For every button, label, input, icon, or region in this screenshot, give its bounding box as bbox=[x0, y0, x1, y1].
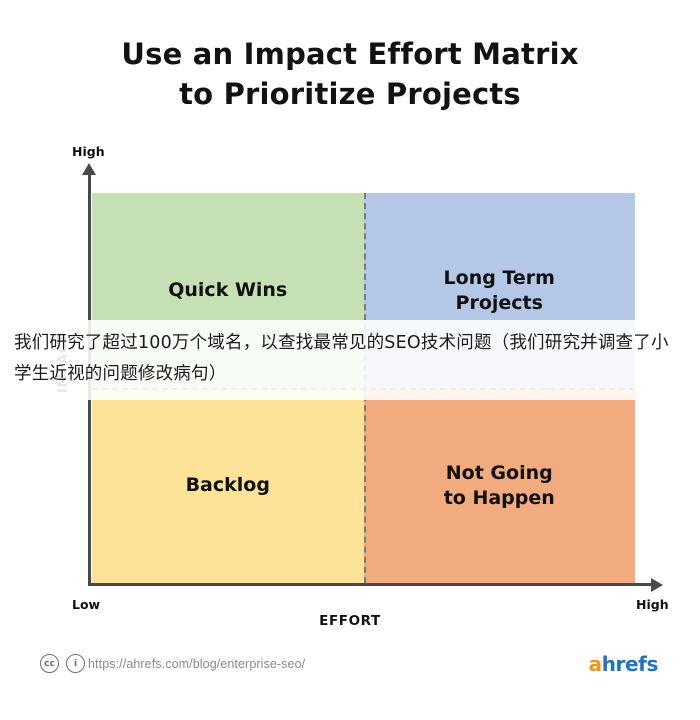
footer: cc i https://ahrefs.com/blog/enterprise-… bbox=[0, 650, 700, 690]
quadrant-backlog[interactable]: Backlog bbox=[92, 388, 364, 583]
ahrefs-logo-a: a bbox=[589, 652, 602, 676]
quadrant-label-long-term-projects: Long Term Projects bbox=[444, 266, 555, 316]
translation-overlay: 我们研究了超过100万个域名，以查找最常见的SEO技术问题（我们研究并调查了小学… bbox=[0, 320, 700, 400]
creative-commons-license: cc i bbox=[40, 654, 85, 673]
quadrant-label-quick-wins: Quick Wins bbox=[168, 278, 287, 303]
x-axis-line bbox=[88, 583, 653, 586]
x-axis-tick-low: Low bbox=[72, 597, 100, 612]
x-axis-arrow-icon bbox=[651, 578, 663, 592]
creative-commons-icon: cc bbox=[40, 654, 59, 673]
page-title: Use an Impact Effort Matrix to Prioritiz… bbox=[0, 34, 700, 114]
x-axis-title: EFFORT bbox=[0, 613, 700, 629]
x-axis-tick-high: High bbox=[636, 597, 669, 612]
y-axis-arrow-icon bbox=[82, 163, 96, 175]
ahrefs-logo[interactable]: ahrefs bbox=[589, 652, 658, 676]
quadrant-label-not-going-to-happen: Not Going to Happen bbox=[444, 461, 555, 511]
page-title-line-2: to Prioritize Projects bbox=[0, 74, 700, 114]
page-title-line-1: Use an Impact Effort Matrix bbox=[0, 34, 700, 74]
y-axis-tick-high: High bbox=[72, 144, 105, 159]
translation-overlay-text: 我们研究了超过100万个域名，以查找最常见的SEO技术问题（我们研究并调查了小学… bbox=[14, 328, 686, 390]
quadrant-not-going-to-happen[interactable]: Not Going to Happen bbox=[364, 388, 636, 583]
quadrant-label-backlog: Backlog bbox=[186, 473, 270, 498]
ahrefs-logo-hrefs: hrefs bbox=[602, 652, 658, 676]
source-url[interactable]: https://ahrefs.com/blog/enterprise-seo/ bbox=[88, 657, 305, 671]
attribution-person-icon: i bbox=[66, 654, 85, 673]
